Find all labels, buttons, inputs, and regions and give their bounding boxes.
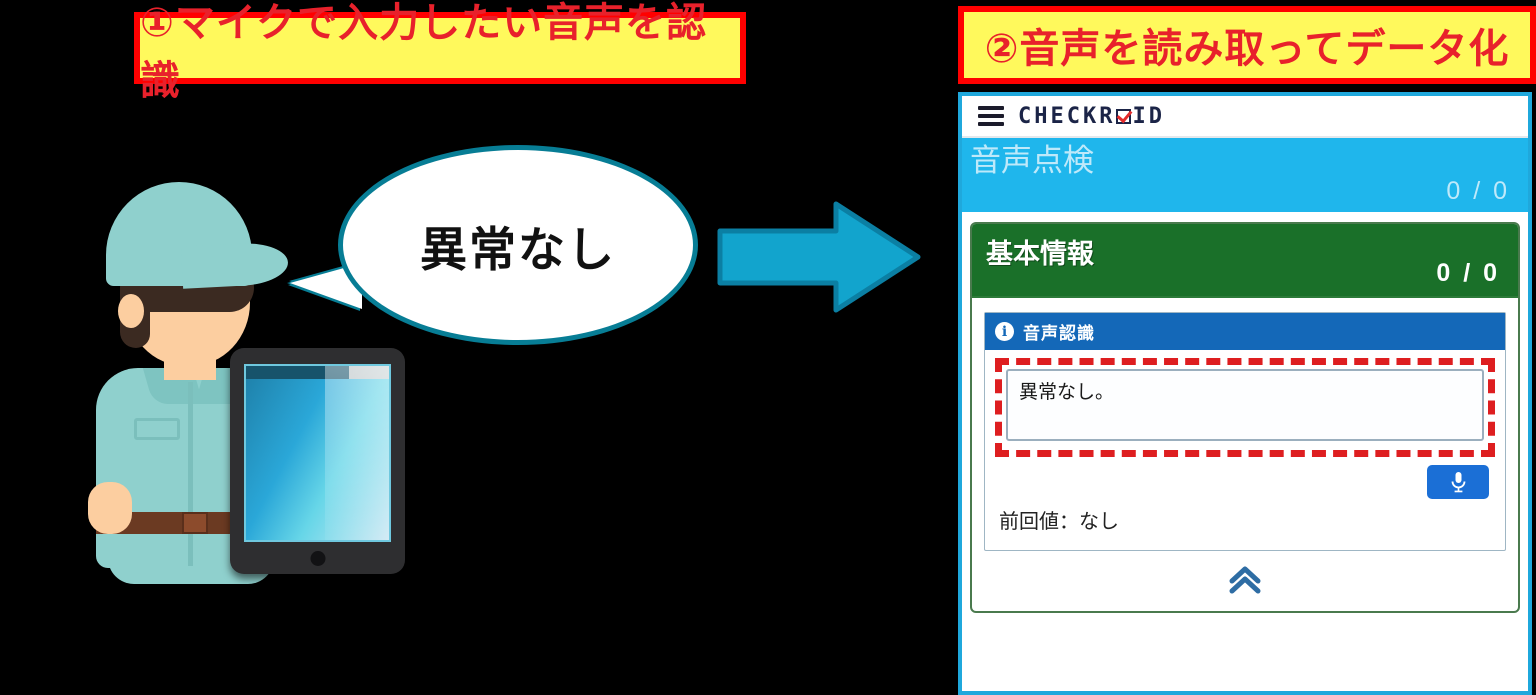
microphone-button[interactable] [1427,465,1489,499]
section-card-basic-info: 基本情報 0 / 0 i 音声認識 [970,222,1520,613]
tablet-screen-glare [325,366,389,540]
speech-bubble-text: 異常なし [338,145,698,345]
section-progress-count: 0 / 0 [1436,259,1500,288]
voice-input-highlight-annotation [995,358,1495,457]
worker-illustration: 異常なし [80,150,500,600]
worker-ear [118,294,144,328]
page-progress-count: 0 / 0 [1446,177,1510,206]
mic-button-row [985,463,1505,499]
callout-banner-step-2-label: ②音声を読み取ってデータ化 [985,16,1510,74]
brand-logo: CHECKR ID [1018,104,1165,129]
double-chevron-up-icon [1225,565,1265,595]
section-collapse-control[interactable] [972,551,1518,611]
microphone-icon [1450,471,1467,493]
info-icon[interactable]: i [995,322,1014,341]
flow-arrow-icon [716,196,922,318]
previous-value-label: 前回値：なし [985,499,1505,550]
tablet-home-button [310,551,325,566]
brand-checkbox-icon [1116,109,1131,124]
section-body: i 音声認識 前回値：なし [972,298,1518,551]
callout-banner-step-2: ②音声を読み取ってデータ化 [958,6,1536,84]
worker-chest-pocket [134,418,180,440]
tablet-device [230,348,405,574]
section-header[interactable]: 基本情報 0 / 0 [972,224,1518,298]
voice-recognition-textarea[interactable] [1006,369,1484,441]
brand-logo-suffix: ID [1132,104,1165,129]
section-title: 基本情報 [986,232,1504,271]
page-title: 音声点検 [970,144,1512,178]
callout-banner-step-1-label: ①マイクで入力したい音声を認識 [140,0,740,106]
worker-shirt-placket [188,382,193,566]
mobile-app-screenshot: CHECKR ID 音声点検 0 / 0 基本情報 0 / 0 i 音声認識 [958,92,1532,695]
voice-recognition-item-label: 音声認識 [1023,319,1095,344]
page-title-bar: 音声点検 0 / 0 [962,138,1528,212]
voice-recognition-item: i 音声認識 前回値：なし [984,312,1506,551]
voice-recognition-item-header: i 音声認識 [985,313,1505,350]
worker-cap-brim [181,241,289,288]
app-top-bar: CHECKR ID [962,96,1528,138]
worker-hand [88,482,132,534]
brand-logo-prefix: CHECKR [1018,104,1115,129]
speech-bubble: 異常なし [338,145,698,345]
worker-belt-buckle [182,512,208,534]
callout-banner-step-1: ①マイクで入力したい音声を認識 [134,12,746,84]
tablet-screen [244,364,391,542]
hamburger-menu-icon[interactable] [978,106,1004,126]
